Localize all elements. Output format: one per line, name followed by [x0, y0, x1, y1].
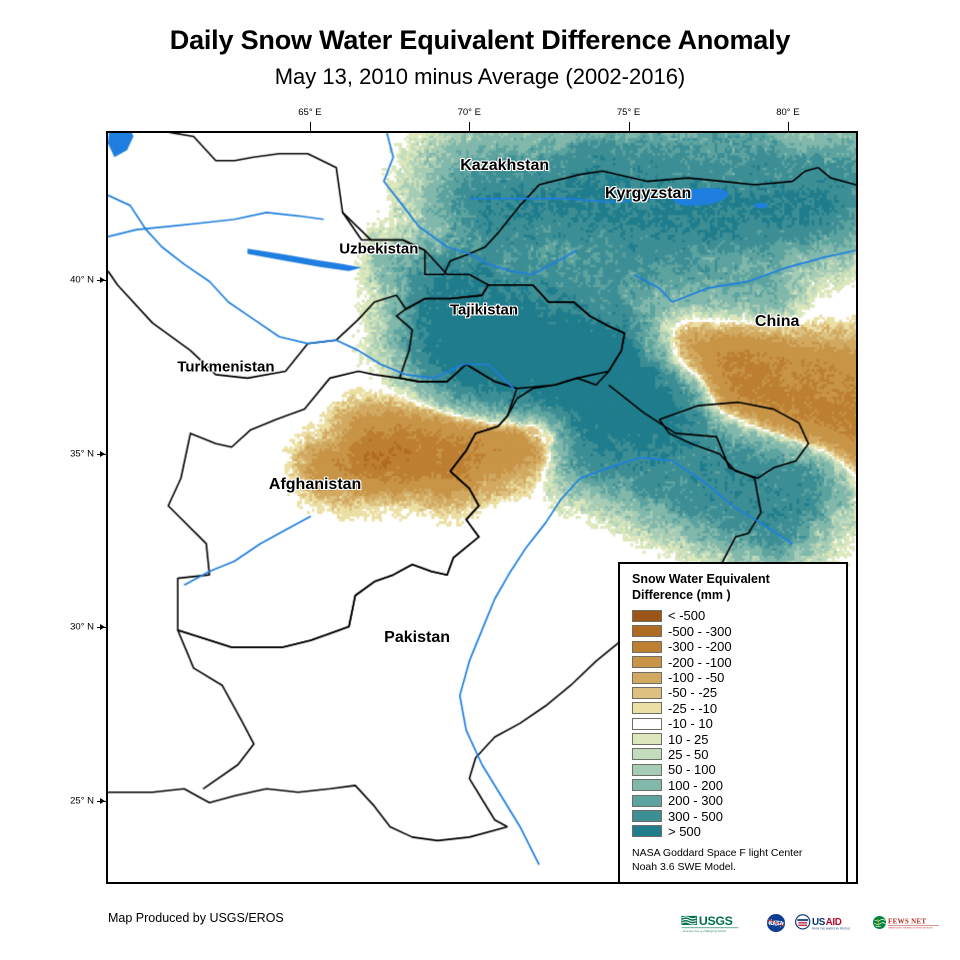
legend-label: -500 - -300	[668, 625, 732, 638]
legend-entry: -50 - -25	[632, 685, 836, 700]
latitude-tick-arrow	[100, 451, 105, 457]
legend-entry: -500 - -300	[632, 624, 836, 639]
legend-swatch	[632, 625, 662, 637]
legend-entry: 200 - 300	[632, 793, 836, 808]
legend-swatch	[632, 672, 662, 684]
legend-swatch	[632, 779, 662, 791]
svg-text:science for a changing world: science for a changing world	[683, 929, 726, 933]
country-label: Tajikistan	[450, 301, 518, 318]
usaid-logo: US AID FROM THE AMERICAN PEOPLE	[794, 912, 866, 934]
legend-label: -300 - -200	[668, 640, 732, 653]
latitude-label: 30° N	[54, 622, 94, 633]
svg-text:FAMINE EARLY WARNING SYSTEMS N: FAMINE EARLY WARNING SYSTEMS NETWORK	[889, 927, 934, 930]
legend-swatch	[632, 810, 662, 822]
logo-bar: USGS science for a changing world NASA U…	[680, 908, 942, 938]
country-label: Turkmenistan	[177, 359, 274, 376]
title-block: Daily Snow Water Equivalent Difference A…	[0, 26, 960, 89]
legend-label: 200 - 300	[668, 794, 723, 807]
country-label: Kazakhstan	[460, 157, 549, 175]
nasa-logo: NASA	[764, 912, 788, 934]
svg-text:US: US	[812, 917, 826, 928]
country-label: Uzbekistan	[339, 241, 418, 258]
legend-label: -100 - -50	[668, 671, 724, 684]
legend-entry: 25 - 50	[632, 747, 836, 762]
legend-entry: 100 - 200	[632, 778, 836, 793]
longitude-label: 75° E	[617, 107, 640, 118]
legend-entry: -10 - 10	[632, 716, 836, 731]
legend-swatch	[632, 702, 662, 714]
legend-label: -50 - -25	[668, 686, 717, 699]
latitude-label: 25° N	[54, 795, 94, 806]
longitude-label: 65° E	[298, 107, 321, 118]
legend-entry: > 500	[632, 824, 836, 839]
legend-swatch	[632, 656, 662, 668]
legend-label: 100 - 200	[668, 779, 723, 792]
legend-label: -25 - -10	[668, 702, 717, 715]
latitude-tick-arrow	[100, 277, 105, 283]
legend-label: -200 - -100	[668, 656, 732, 669]
longitude-tick	[469, 122, 470, 131]
latitude-tick-arrow	[100, 798, 105, 804]
longitude-tick	[788, 122, 789, 131]
legend-swatch	[632, 795, 662, 807]
svg-text:USGS: USGS	[699, 914, 733, 928]
country-label: Kyrgyzstan	[605, 185, 691, 203]
legend-label: > 500	[668, 825, 701, 838]
usgs-logo: USGS science for a changing world	[680, 912, 758, 934]
legend-swatch	[632, 687, 662, 699]
legend-swatch	[632, 825, 662, 837]
legend-panel: Snow Water Equivalent Difference (mm ) <…	[618, 562, 848, 884]
legend-swatch	[632, 718, 662, 730]
latitude-label: 40° N	[54, 275, 94, 286]
legend-entry: 300 - 500	[632, 808, 836, 823]
legend-entry: < -500	[632, 608, 836, 623]
legend-entry: -100 - -50	[632, 670, 836, 685]
legend-swatch	[632, 641, 662, 653]
legend-swatch	[632, 748, 662, 760]
longitude-tick	[629, 122, 630, 131]
legend-label: 300 - 500	[668, 810, 723, 823]
country-label: China	[755, 313, 799, 331]
legend-entry: 50 - 100	[632, 762, 836, 777]
longitude-tick	[310, 122, 311, 131]
legend-label: -10 - 10	[668, 717, 713, 730]
legend-entry: -200 - -100	[632, 654, 836, 669]
legend-label: 10 - 25	[668, 733, 708, 746]
latitude-tick-arrow	[100, 624, 105, 630]
latitude-label: 35° N	[54, 448, 94, 459]
legend-title: Snow Water Equivalent Difference (mm )	[632, 572, 836, 603]
longitude-label: 80° E	[776, 107, 799, 118]
legend-label: 25 - 50	[668, 748, 708, 761]
svg-text:FEWS NET: FEWS NET	[888, 918, 926, 926]
legend-label: < -500	[668, 609, 705, 622]
svg-text:NASA: NASA	[769, 921, 784, 927]
svg-text:AID: AID	[826, 917, 842, 928]
longitude-label: 70° E	[458, 107, 481, 118]
footer-credit: Map Produced by USGS/EROS	[108, 911, 284, 925]
legend-swatch	[632, 764, 662, 776]
legend-swatch	[632, 610, 662, 622]
legend-entries: < -500-500 - -300-300 - -200-200 - -100-…	[632, 608, 836, 839]
country-label: Pakistan	[384, 629, 450, 647]
legend-swatch	[632, 733, 662, 745]
fewsnet-logo: FEWS NET FAMINE EARLY WARNING SYSTEMS NE…	[872, 912, 942, 934]
legend-label: 50 - 100	[668, 763, 716, 776]
legend-entry: -25 - -10	[632, 701, 836, 716]
page-title: Daily Snow Water Equivalent Difference A…	[0, 26, 960, 56]
legend-entry: 10 - 25	[632, 731, 836, 746]
legend-entry: -300 - -200	[632, 639, 836, 654]
country-label: Afghanistan	[269, 476, 361, 494]
legend-attribution: NASA Goddard Space F light Center Noah 3…	[632, 846, 836, 874]
page-subtitle: May 13, 2010 minus Average (2002-2016)	[0, 65, 960, 89]
